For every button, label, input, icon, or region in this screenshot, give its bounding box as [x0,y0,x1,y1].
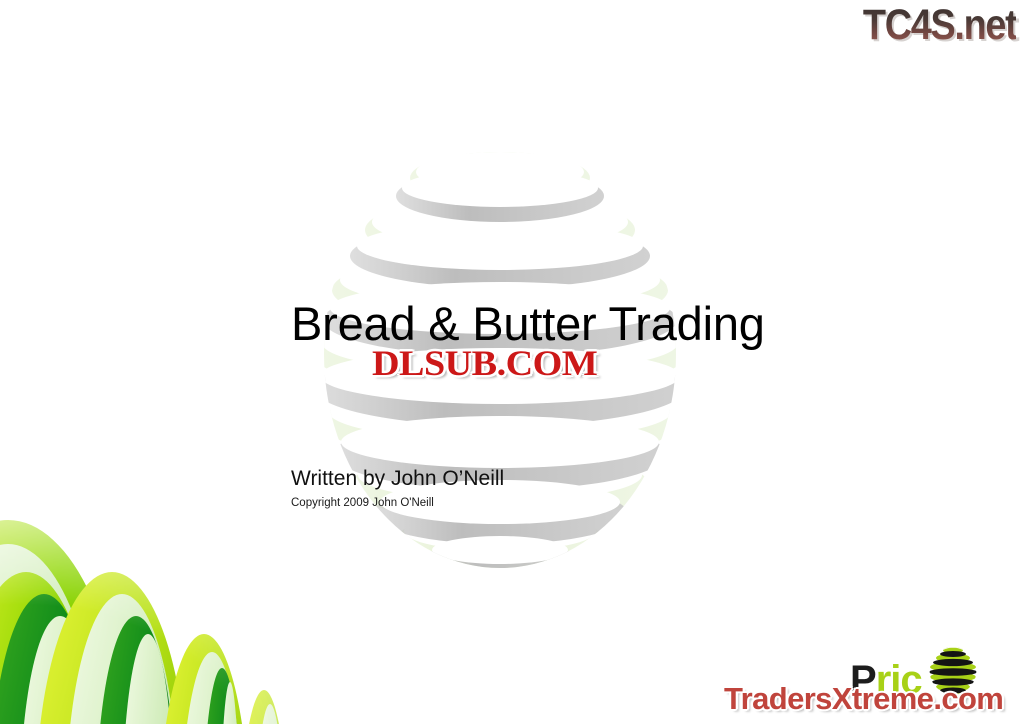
author-block: Written by John O’Neill [291,466,791,492]
tc4s-watermark: TC4S.net [863,2,1016,48]
copyright-line: Copyright 2009 John O'Neill [291,496,434,511]
author-line: Written by John O’Neill [291,466,791,492]
dlsub-watermark: DLSUB.COM [372,344,597,382]
presentation-slide: Bread & Butter Trading Written by John O… [0,0,1024,724]
tradersxtreme-watermark: TradersXtreme.com [724,682,1003,716]
